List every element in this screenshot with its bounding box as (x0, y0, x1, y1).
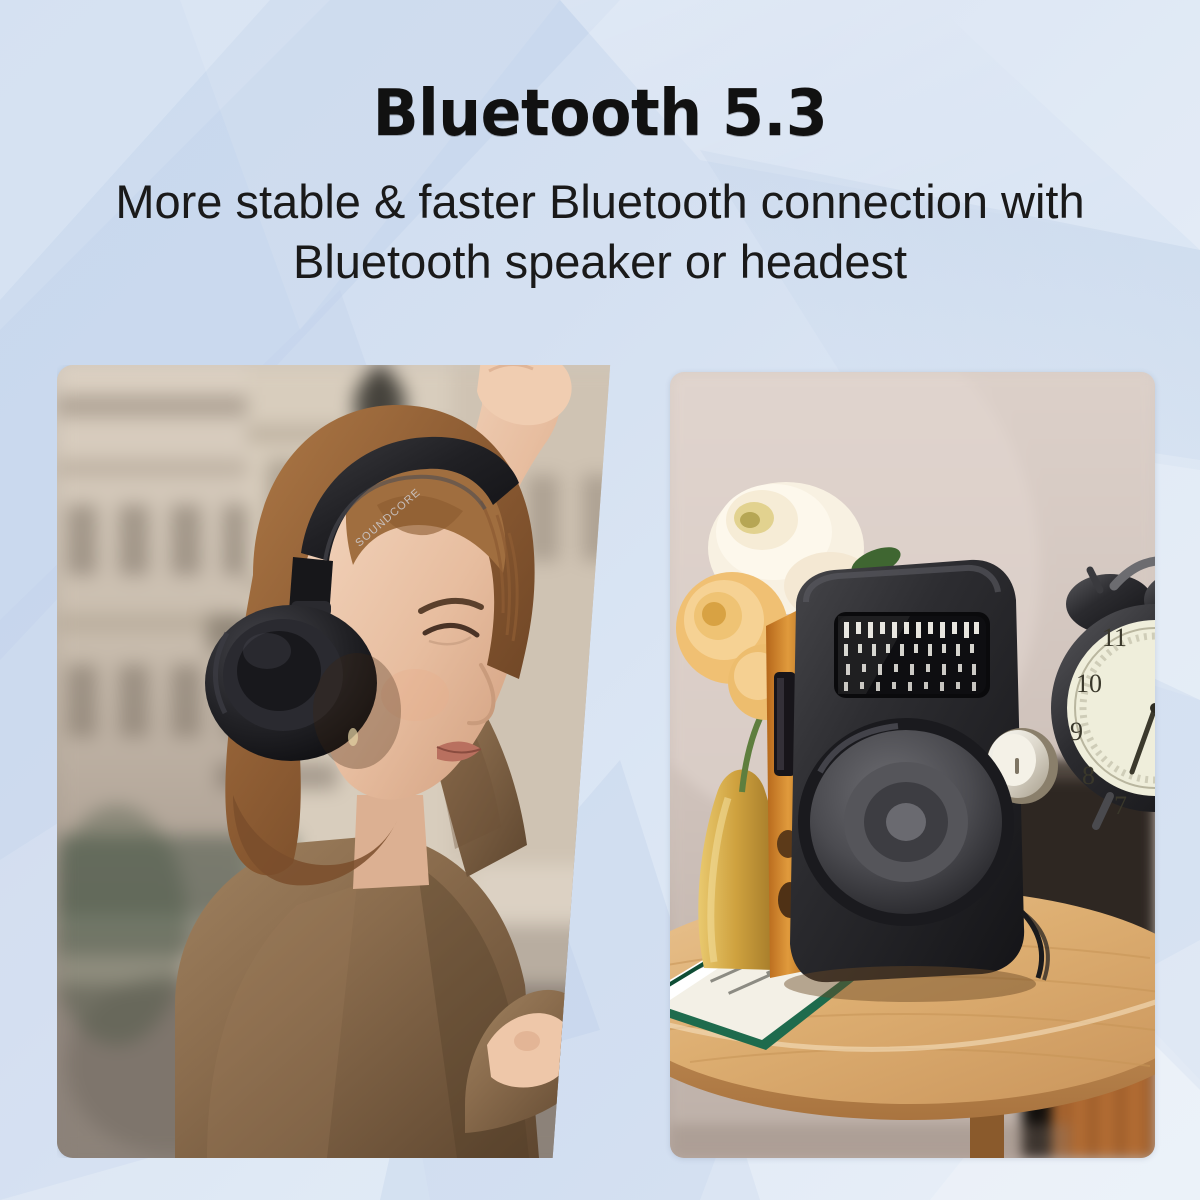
lifestyle-headphones-photo[interactable]: SOUNDCORE (57, 365, 632, 1158)
subtitle-line-1: More stable & faster Bluetooth connectio… (48, 172, 1152, 232)
woman-with-headphones: SOUNDCORE (57, 365, 632, 1158)
page-subtitle: More stable & faster Bluetooth connectio… (0, 172, 1200, 292)
paris-street-scene: SOUNDCORE (57, 365, 632, 1158)
svg-text:11: 11 (1102, 623, 1127, 652)
room-objects: 11 10 9 8 7 (670, 372, 1155, 1158)
subtitle-line-2: Bluetooth speaker or headest (48, 232, 1152, 292)
svg-text:7: 7 (1114, 791, 1127, 820)
svg-text:8: 8 (1082, 761, 1095, 790)
bedside-speaker-scene: 11 10 9 8 7 (670, 372, 1155, 1158)
svg-text:9: 9 (1070, 717, 1083, 746)
lifestyle-speaker-photo[interactable]: 11 10 9 8 7 (670, 372, 1155, 1158)
header: Bluetooth 5.3 More stable & faster Bluet… (0, 0, 1200, 292)
page-title: Bluetooth 5.3 (36, 82, 1164, 146)
svg-text:10: 10 (1076, 669, 1102, 698)
